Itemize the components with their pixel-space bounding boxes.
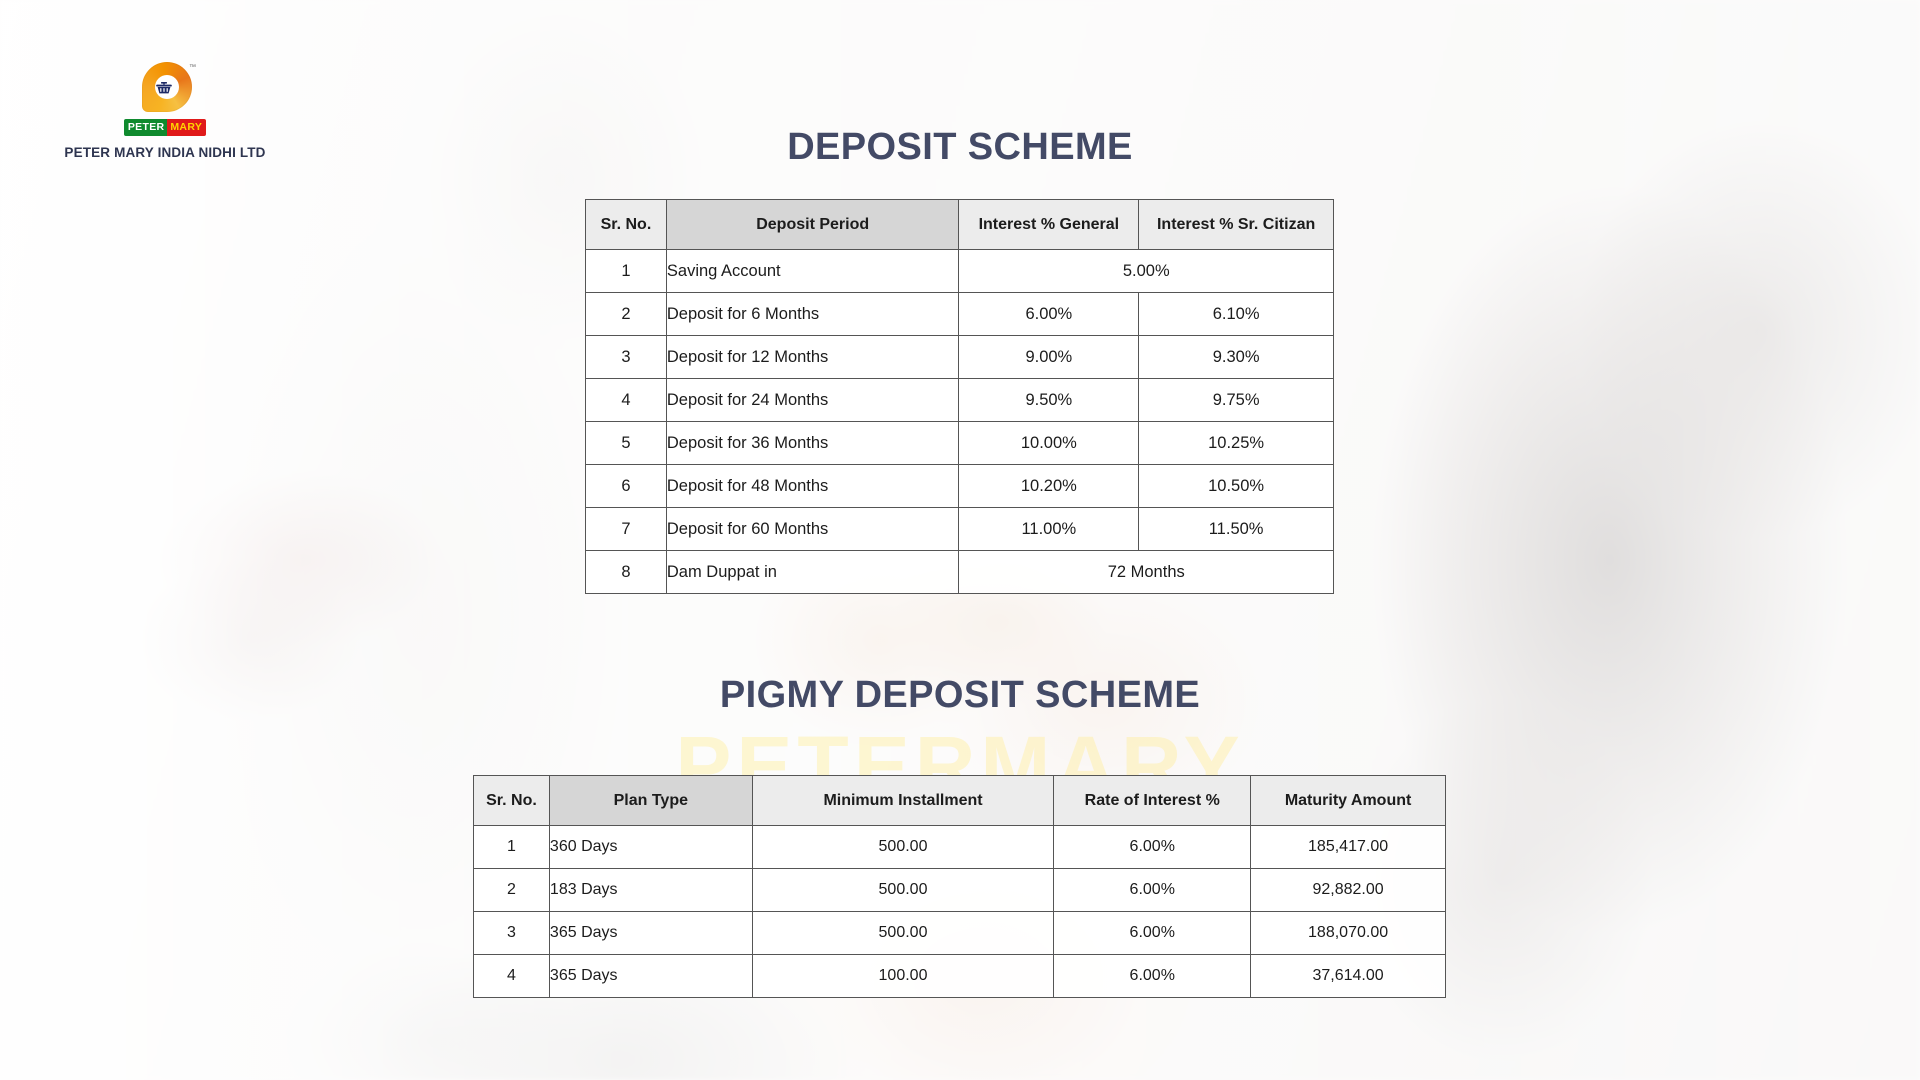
- table-row: 2 Deposit for 6 Months 6.00% 6.10%: [586, 293, 1334, 336]
- cell-installment: 500.00: [752, 912, 1054, 955]
- cell-plan-type: 365 Days: [549, 912, 752, 955]
- column-header-maturity-amount: Maturity Amount: [1251, 776, 1446, 826]
- cell-rate: 6.00%: [1054, 826, 1251, 869]
- cell-senior: 6.10%: [1139, 293, 1334, 336]
- cell-installment: 500.00: [752, 826, 1054, 869]
- table-row: 4 Deposit for 24 Months 9.50% 9.75%: [586, 379, 1334, 422]
- cell-maturity: 185,417.00: [1251, 826, 1446, 869]
- cell-senior: 11.50%: [1139, 508, 1334, 551]
- cell-period: Deposit for 24 Months: [666, 379, 959, 422]
- cell-installment: 500.00: [752, 869, 1054, 912]
- table-row: 6 Deposit for 48 Months 10.20% 10.50%: [586, 465, 1334, 508]
- cell-period: Deposit for 60 Months: [666, 508, 959, 551]
- cell-sr-no: 3: [586, 336, 667, 379]
- section-title-pigmy-deposit-scheme: PIGMY DEPOSIT SCHEME: [0, 674, 1920, 717]
- cell-sr-no: 2: [586, 293, 667, 336]
- cell-plan-type: 360 Days: [549, 826, 752, 869]
- section-title-deposit-scheme: DEPOSIT SCHEME: [0, 126, 1920, 169]
- cell-rate-merged: 72 Months: [959, 551, 1334, 594]
- cell-rate: 6.00%: [1054, 955, 1251, 998]
- logo-pot-icon: [155, 82, 173, 94]
- cell-sr-no: 1: [474, 826, 550, 869]
- table-row: 1 360 Days 500.00 6.00% 185,417.00: [474, 826, 1446, 869]
- cell-period: Deposit for 12 Months: [666, 336, 959, 379]
- column-header-min-installment: Minimum Installment: [752, 776, 1054, 826]
- cell-general: 11.00%: [959, 508, 1139, 551]
- cell-rate-merged: 5.00%: [959, 250, 1334, 293]
- cell-sr-no: 1: [586, 250, 667, 293]
- cell-senior: 9.30%: [1139, 336, 1334, 379]
- column-header-interest-general: Interest % General: [959, 200, 1139, 250]
- cell-period: Deposit for 48 Months: [666, 465, 959, 508]
- column-header-deposit-period: Deposit Period: [666, 200, 959, 250]
- deposit-scheme-table: Sr. No. Deposit Period Interest % Genera…: [585, 199, 1334, 594]
- cell-sr-no: 7: [586, 508, 667, 551]
- table-row: 1 Saving Account 5.00%: [586, 250, 1334, 293]
- cell-period: Saving Account: [666, 250, 959, 293]
- table-row: 8 Dam Duppat in 72 Months: [586, 551, 1334, 594]
- column-header-rate-of-interest: Rate of Interest %: [1054, 776, 1251, 826]
- cell-sr-no: 2: [474, 869, 550, 912]
- cell-installment: 100.00: [752, 955, 1054, 998]
- cell-period: Deposit for 36 Months: [666, 422, 959, 465]
- cell-maturity: 92,882.00: [1251, 869, 1446, 912]
- cell-senior: 10.25%: [1139, 422, 1334, 465]
- cell-general: 9.00%: [959, 336, 1139, 379]
- trademark-icon: ™: [189, 64, 196, 71]
- table-header-row: Sr. No. Deposit Period Interest % Genera…: [586, 200, 1334, 250]
- cell-sr-no: 4: [586, 379, 667, 422]
- table-row: 3 Deposit for 12 Months 9.00% 9.30%: [586, 336, 1334, 379]
- cell-rate: 6.00%: [1054, 912, 1251, 955]
- table-row: 2 183 Days 500.00 6.00% 92,882.00: [474, 869, 1446, 912]
- cell-general: 6.00%: [959, 293, 1139, 336]
- column-header-sr-no: Sr. No.: [474, 776, 550, 826]
- cell-period: Dam Duppat in: [666, 551, 959, 594]
- cell-senior: 10.50%: [1139, 465, 1334, 508]
- table-row: 5 Deposit for 36 Months 10.00% 10.25%: [586, 422, 1334, 465]
- cell-period: Deposit for 6 Months: [666, 293, 959, 336]
- cell-plan-type: 183 Days: [549, 869, 752, 912]
- cell-sr-no: 3: [474, 912, 550, 955]
- table-row: 7 Deposit for 60 Months 11.00% 11.50%: [586, 508, 1334, 551]
- cell-plan-type: 365 Days: [549, 955, 752, 998]
- cell-maturity: 37,614.00: [1251, 955, 1446, 998]
- cell-sr-no: 4: [474, 955, 550, 998]
- cell-sr-no: 8: [586, 551, 667, 594]
- table-row: 4 365 Days 100.00 6.00% 37,614.00: [474, 955, 1446, 998]
- cell-rate: 6.00%: [1054, 869, 1251, 912]
- cell-senior: 9.75%: [1139, 379, 1334, 422]
- column-header-plan-type: Plan Type: [549, 776, 752, 826]
- petermary-swirl-logo-icon: ™: [134, 62, 196, 116]
- pigmy-deposit-scheme-table: Sr. No. Plan Type Minimum Installment Ra…: [473, 775, 1446, 998]
- cell-general: 9.50%: [959, 379, 1139, 422]
- column-header-interest-senior: Interest % Sr. Citizan: [1139, 200, 1334, 250]
- cell-general: 10.20%: [959, 465, 1139, 508]
- table-header-row: Sr. No. Plan Type Minimum Installment Ra…: [474, 776, 1446, 826]
- cell-general: 10.00%: [959, 422, 1139, 465]
- column-header-sr-no: Sr. No.: [586, 200, 667, 250]
- cell-maturity: 188,070.00: [1251, 912, 1446, 955]
- cell-sr-no: 5: [586, 422, 667, 465]
- table-row: 3 365 Days 500.00 6.00% 188,070.00: [474, 912, 1446, 955]
- cell-sr-no: 6: [586, 465, 667, 508]
